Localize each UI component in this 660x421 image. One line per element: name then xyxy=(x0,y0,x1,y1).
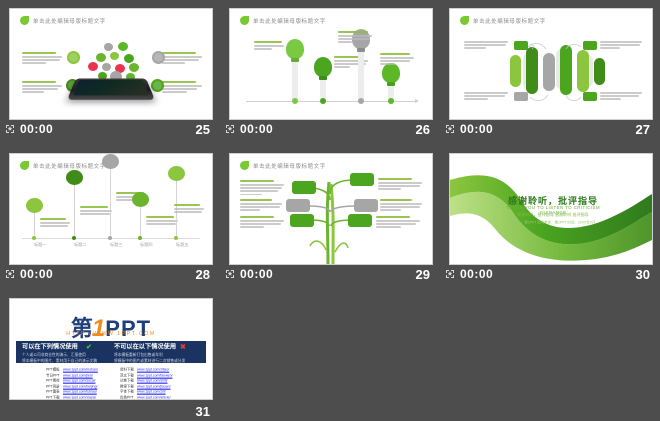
leaf-bullet-icon xyxy=(240,16,249,25)
slide-footer-27: 00:00 27 xyxy=(440,120,660,138)
deny-column: 不可以在以下情况使用 将本模板重新打包出售或牟利 将模板中的图片或素材进行二次销… xyxy=(114,343,202,362)
slide-timer: 00:00 xyxy=(20,267,53,281)
link-url[interactable]: www.1ppt.com/tubiao/ xyxy=(63,389,97,394)
link-url[interactable]: www.1ppt.com/shiti/ xyxy=(137,378,167,383)
link-row[interactable]: 范文下载www.1ppt.com/fanwen/ xyxy=(120,373,168,377)
star-transition-icon xyxy=(224,268,236,280)
slide-number: 31 xyxy=(196,404,210,419)
tree-node-6 xyxy=(348,214,372,227)
link-row[interactable]: 资料下载www.1ppt.com/ziliao/ xyxy=(120,367,168,371)
link-label: 试卷下载 xyxy=(120,378,136,383)
bubble-icon xyxy=(118,42,128,51)
slide-thumbnail-26[interactable]: 单击此处编辑母版标题文字 xyxy=(229,8,433,120)
slide-timer: 00:00 xyxy=(20,122,53,136)
slide-cell-25[interactable]: 单击此处编辑母版标题文字 xyxy=(0,0,220,145)
link-column-left: PPT模板www.1ppt.com/moban/ 节日PPTwww.1ppt.c… xyxy=(46,367,99,400)
slide-thumbnail-grid: 单击此处编辑母版标题文字 xyxy=(0,0,660,421)
link-url[interactable]: www.1ppt.com/xiazai/ xyxy=(63,395,96,400)
bubble-icon xyxy=(110,52,119,60)
brand-logo: 第1PPT xyxy=(10,311,212,343)
battery-icon xyxy=(151,79,164,92)
slide-number: 26 xyxy=(416,122,430,137)
tree-caption-3 xyxy=(240,216,284,230)
tree-caption-6 xyxy=(376,216,420,230)
link-label: PPT下载 xyxy=(46,395,62,400)
slide-number: 30 xyxy=(636,267,650,282)
slide-number: 28 xyxy=(196,267,210,282)
deny-title: 不可以在以下情况使用 xyxy=(114,343,213,351)
bubble-icon xyxy=(102,63,111,71)
green-check-icon: ✔ xyxy=(86,343,92,351)
slide-cell-31[interactable]: 第1PPT HTTP://WWW.1PPT.COM 可以在下列情况使用 个人或公… xyxy=(0,290,220,421)
link-label: 教案下载 xyxy=(120,384,136,389)
link-label: 节日PPT xyxy=(46,373,62,378)
slide-thumbnail-28[interactable]: 单击此处编辑母版标题文字 标题一 xyxy=(9,153,213,265)
lightbulb-item-4 xyxy=(382,63,400,101)
tree-caption-1 xyxy=(240,180,284,197)
callout-text-4 xyxy=(162,81,204,95)
link-label: 资料下载 xyxy=(120,367,136,372)
bulb-caption-3 xyxy=(338,31,374,45)
link-url[interactable]: www.1ppt.com/jiaoan/ xyxy=(137,384,171,389)
leaf-bullet-icon xyxy=(20,161,29,170)
link-url[interactable]: www.1ppt.com/article/ xyxy=(137,395,171,400)
pin-axis-label-4: 标题四 xyxy=(140,242,153,248)
slide-thumbnail-29[interactable]: 单击此处编辑母版标题文字 xyxy=(229,153,433,265)
slide-timer: 00:00 xyxy=(460,122,493,136)
slide-thumbnail-30[interactable]: 感谢聆听，批评指导 THANK YOU TO LISTEN TO CRITICI… xyxy=(449,153,653,265)
logo-suffix: PPT xyxy=(105,316,151,341)
tree-caption-2 xyxy=(240,199,282,213)
logo-prefix: 第 xyxy=(71,316,92,341)
tree-node-4 xyxy=(354,199,378,212)
slide-title-28: 单击此处编辑母版标题文字 xyxy=(20,161,79,170)
star-transition-icon xyxy=(4,123,16,135)
slide-footer-25: 00:00 25 xyxy=(0,120,220,138)
slide-title-text: 单击此处编辑母版标题文字 xyxy=(33,17,106,25)
slide-title-25: 单击此处编辑母版标题文字 xyxy=(20,16,79,25)
slide-thumbnail-31[interactable]: 第1PPT HTTP://WWW.1PPT.COM 可以在下列情况使用 个人或公… xyxy=(9,298,213,400)
link-url[interactable]: www.1ppt.com/ziliao/ xyxy=(137,367,169,372)
slide-footer-26: 00:00 26 xyxy=(220,120,440,138)
slide-timer: 00:00 xyxy=(240,267,273,281)
logo-url: HTTP://WWW.1PPT.COM xyxy=(9,330,213,337)
lightbulb-item-1 xyxy=(286,39,304,101)
link-url[interactable]: www.1ppt.com/fanwen/ xyxy=(137,373,172,378)
slide-title-text: 单击此处编辑母版标题文字 xyxy=(33,162,106,170)
pin-caption-1 xyxy=(40,218,72,228)
slide-footer-29: 00:00 29 xyxy=(220,265,440,283)
callout-text-1 xyxy=(22,52,64,66)
slide-title-26: 单击此处编辑母版标题文字 xyxy=(240,16,299,25)
pin-axis-label-1: 标题一 xyxy=(34,242,47,248)
bubble-icon xyxy=(124,54,134,63)
tablet-device-illustration xyxy=(67,79,155,100)
pin-axis-label-3: 标题三 xyxy=(110,242,123,248)
leaf-icon xyxy=(67,51,80,64)
link-row[interactable]: 教案下载www.1ppt.com/jiaoan/ xyxy=(120,384,168,388)
slide-thumbnail-27[interactable]: 单击此处编辑母版标题文字 xyxy=(449,8,653,120)
thanks-note: 汇报人：第1PPT 指导老师：第1PPT 时间：20XX年X月 xyxy=(498,220,608,225)
pin-caption-5 xyxy=(174,204,206,214)
connector-arcs xyxy=(450,9,652,119)
star-transition-icon xyxy=(444,123,456,135)
slide-cell-28[interactable]: 单击此处编辑母版标题文字 标题一 xyxy=(0,145,220,290)
slide-cell-26[interactable]: 单击此处编辑母版标题文字 xyxy=(220,0,440,145)
slide-footer-30: 00:00 30 xyxy=(440,265,660,283)
link-url[interactable]: www.1ppt.com/sucai/ xyxy=(63,378,95,383)
link-label: PPT模板 xyxy=(46,367,62,372)
lightbulb-icon xyxy=(314,57,332,77)
bubble-icon xyxy=(96,53,106,62)
slide-number: 25 xyxy=(196,122,210,137)
star-transition-icon xyxy=(224,123,236,135)
link-row[interactable]: 试卷下载www.1ppt.com/shiti/ xyxy=(120,378,168,382)
link-row[interactable]: PPT图表www.1ppt.com/tubiao/ xyxy=(46,389,99,393)
slide-cell-29[interactable]: 单击此处编辑母版标题文字 xyxy=(220,145,440,290)
link-url[interactable]: www.1ppt.com/moban/ xyxy=(63,367,98,372)
pin-head-icon xyxy=(66,170,83,185)
pin-head-icon xyxy=(168,166,185,181)
pin-head-icon xyxy=(132,192,149,207)
link-label: PPT图表 xyxy=(46,389,62,394)
tree-node-3 xyxy=(286,199,310,212)
link-label: PPT背景 xyxy=(46,384,62,389)
bulb-caption-1 xyxy=(254,41,286,51)
slide-footer-28: 00:00 28 xyxy=(0,265,220,283)
slide-thumbnail-25[interactable]: 单击此处编辑母版标题文字 xyxy=(9,8,213,120)
lightbulb-item-2 xyxy=(314,57,332,101)
logo-one: 1 xyxy=(92,315,105,342)
star-transition-icon xyxy=(444,268,456,280)
tree-node-2 xyxy=(350,173,374,186)
slide-timer: 00:00 xyxy=(460,267,493,281)
link-row[interactable]: PPT素材www.1ppt.com/sucai/ xyxy=(46,378,99,382)
pin-head-icon xyxy=(26,198,43,213)
slide-title-text: 单击此处编辑母版标题文字 xyxy=(253,17,326,25)
tree-caption-5 xyxy=(380,199,422,213)
link-url[interactable]: www.1ppt.com/beijing/ xyxy=(63,384,97,389)
slide-cell-30[interactable]: 感谢聆听，批评指导 THANK YOU TO LISTEN TO CRITICI… xyxy=(440,145,660,290)
slide-cell-27[interactable]: 单击此处编辑母版标题文字 xyxy=(440,0,660,145)
link-row[interactable]: 节日PPTwww.1ppt.com/jieri/ xyxy=(46,373,99,377)
link-label: PPT素材 xyxy=(46,378,62,383)
red-cross-icon: ✖ xyxy=(180,343,186,351)
usage-terms-banner: 可以在下列情况使用 个人或公司非商业性的演示、汇报使用 将本模板中的图片、素材用… xyxy=(16,341,206,363)
bubble-icon xyxy=(129,63,139,72)
link-label: 范文下载 xyxy=(120,373,136,378)
lightbulb-icon xyxy=(286,39,304,59)
callout-text-3 xyxy=(162,52,204,66)
tree-node-1 xyxy=(292,181,316,194)
tree-node-5 xyxy=(290,214,314,227)
callout-text-2 xyxy=(22,81,64,95)
link-row[interactable]: PPT背景www.1ppt.com/beijing/ xyxy=(46,384,99,388)
link-url[interactable]: www.1ppt.com/jieri/ xyxy=(63,373,93,378)
link-column-right: 资料下载www.1ppt.com/ziliao/ 范文下载www.1ppt.co… xyxy=(120,367,168,400)
star-transition-icon xyxy=(4,268,16,280)
deny-line-2: 将模板中的图片或素材进行二次销售或分发 xyxy=(114,358,213,363)
bubble-icon xyxy=(88,62,98,71)
slide-number: 29 xyxy=(416,267,430,282)
link-label: 优秀PPT xyxy=(120,395,136,400)
link-row[interactable]: 优秀PPTwww.1ppt.com/article/ xyxy=(120,395,168,399)
bubble-icon xyxy=(104,43,113,51)
link-row[interactable]: PPT下载www.1ppt.com/xiazai/ xyxy=(46,395,99,399)
user-icon xyxy=(152,51,165,64)
deny-line-1: 将本模板重新打包出售或牟利 xyxy=(114,352,213,357)
link-label: 字体下载 xyxy=(120,389,136,394)
pin-head-icon xyxy=(102,154,119,169)
slide-number: 27 xyxy=(636,122,650,137)
thanks-subtitle: 感谢聆听，批评指导 感谢聆听 批评指导 xyxy=(495,211,610,217)
slide-footer-31: 31 xyxy=(0,402,220,420)
allow-column: 可以在下列情况使用 个人或公司非商业性的演示、汇报使用 将本模板中的图片、素材用… xyxy=(22,343,110,362)
pin-axis-label-2: 标题二 xyxy=(74,242,87,248)
leaf-bullet-icon xyxy=(20,16,29,25)
pin-axis-label-5: 标题五 xyxy=(176,242,189,248)
slide-timer: 00:00 xyxy=(240,122,273,136)
link-row[interactable]: 字体下载www.1ppt.com/ziti/ xyxy=(120,389,168,393)
link-row[interactable]: PPT模板www.1ppt.com/moban/ xyxy=(46,367,99,371)
tree-caption-4 xyxy=(378,178,422,192)
bulb-caption-4 xyxy=(380,53,416,67)
link-url[interactable]: www.1ppt.com/ziti/ xyxy=(137,389,166,394)
